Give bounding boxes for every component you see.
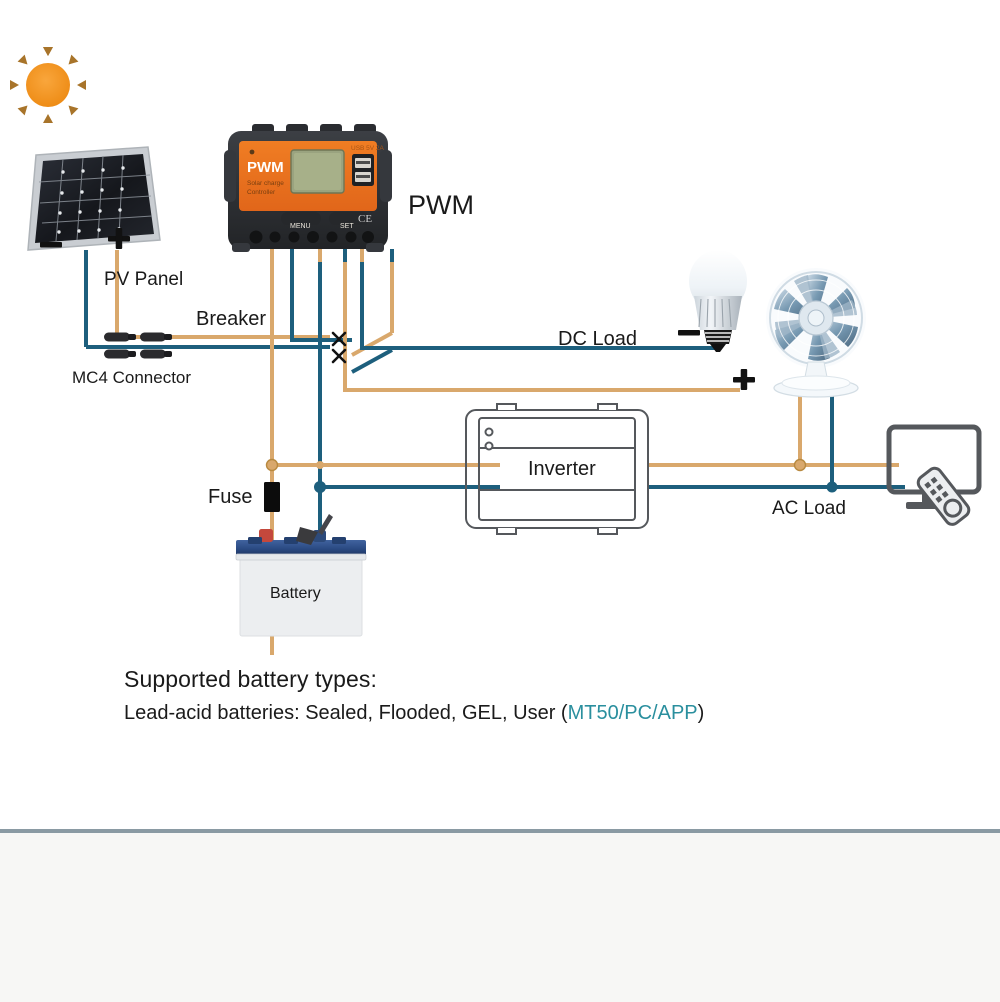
pv-panel xyxy=(28,147,160,250)
footer-subtitle-highlight: MT50/PC/APP xyxy=(568,702,698,724)
label-mc4-connector: MC4 Connector xyxy=(72,369,191,386)
sun-icon xyxy=(10,47,86,123)
controller-menu-text: MENU xyxy=(290,223,311,230)
controller-set-text: SET xyxy=(340,223,354,230)
footer-subtitle: Lead-acid batteries: Sealed, Flooded, GE… xyxy=(124,702,704,725)
label-pwm: PWM xyxy=(408,192,474,219)
fuse xyxy=(264,482,280,512)
battery xyxy=(236,514,366,636)
label-pv-panel: PV Panel xyxy=(104,270,183,289)
controller-usb-text: USB 5V 2A xyxy=(351,145,385,152)
label-inverter: Inverter xyxy=(528,459,596,479)
controller-subtitle-2: Controller xyxy=(247,189,276,196)
label-fuse: Fuse xyxy=(208,487,252,507)
label-dc-load: DC Load xyxy=(558,329,637,349)
controller-brand-text: PWM xyxy=(247,159,284,176)
footer-subtitle-suffix: ) xyxy=(698,702,705,724)
label-ac-load: AC Load xyxy=(772,499,846,518)
footer-title: Supported battery types: xyxy=(124,666,704,693)
ac-load-tv xyxy=(889,427,979,527)
screenshot-root: PWM Solar charge Controller USB 5V 2A ME… xyxy=(0,0,1000,1002)
controller-ce-text: CE xyxy=(358,213,372,225)
supported-battery-types-block: Supported battery types: Lead-acid batte… xyxy=(124,666,704,725)
controller-subtitle-1: Solar charge xyxy=(247,180,284,187)
label-battery: Battery xyxy=(270,586,321,602)
footer-subtitle-prefix: Lead-acid batteries: Sealed, Flooded, GE… xyxy=(124,702,568,724)
fan xyxy=(766,268,866,397)
solar-system-diagram: PWM Solar charge Controller USB 5V 2A ME… xyxy=(0,0,1000,830)
dc-load-bulb xyxy=(689,250,747,352)
connection-banner: CONNECTION xyxy=(0,833,1000,1002)
charge-controller xyxy=(224,124,392,252)
label-breaker: Breaker xyxy=(196,309,266,329)
